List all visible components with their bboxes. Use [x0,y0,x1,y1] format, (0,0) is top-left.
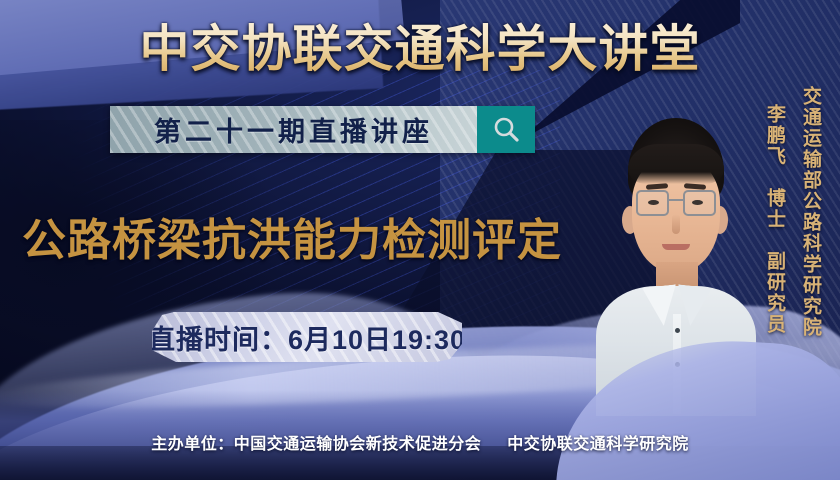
live-time-badge: 直播时间：6月10日19:30 [152,312,462,362]
portrait-mouth [662,244,690,250]
live-time-label: 直播时间：6月10日19:30 [152,318,462,357]
search-icon[interactable] [477,106,535,153]
footer-organizer-primary: 中国交通运输协会新技术促进分会 [234,436,482,453]
speaker-organization: 交通运输部公路科学研究院 [797,86,824,338]
session-subtitle-body: 第二十一期直播讲座 [110,106,477,153]
portrait-glasses [636,190,716,216]
lecture-title: 公路桥梁抗洪能力检测评定 [22,206,622,266]
live-lecture-poster: 中交协联交通科学大讲堂 第二十一期直播讲座 公路桥梁抗洪能力检测评定 直播时间：… [0,0,840,480]
page-title: 中交协联交通科学大讲堂 [120,14,720,76]
footer-organizer-secondary: 中交协联交通科学研究院 [507,436,689,453]
session-subtitle-label: 第二十一期直播讲座 [154,110,433,149]
portrait-lens-left [636,190,669,216]
portrait-fringe [628,144,724,184]
footer-organizers: 主办单位：中国交通运输协会新技术促进分会中交协联交通科学研究院 [0,430,840,454]
portrait-glasses-bridge [669,199,683,201]
portrait-lens-right [683,190,716,216]
session-subtitle-bar: 第二十一期直播讲座 [110,106,535,153]
speaker-name-title: 李鹏飞 博士 副研究员 [761,104,788,335]
portrait-nose [672,214,680,234]
footer-prefix: 主办单位： [151,436,234,453]
portrait-shirt-button-top [675,328,680,333]
